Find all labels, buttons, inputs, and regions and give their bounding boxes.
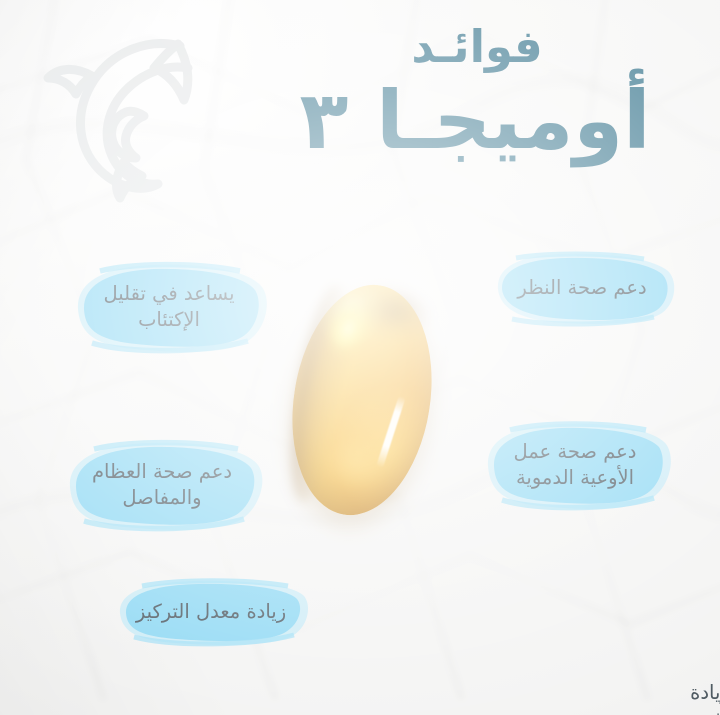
benefit-blob-blood-vessels[interactable]: دعم صحة عمل الأوعية الدموية	[474, 418, 676, 512]
fish-watermark-icon	[28, 16, 218, 206]
benefit-blob-depression[interactable]: يساعد في تقليل الإكتئاب	[66, 259, 272, 355]
benefit-label-vision: دعم صحة النظر	[482, 249, 682, 327]
fish-oil-capsule	[286, 282, 442, 520]
omega3-benefits-poster: فوائـد أوميجـا ٣	[0, 0, 720, 715]
benefit-blob-focus[interactable]: زيادة معدل التركيز	[108, 577, 314, 647]
benefit-label-depression: يساعد في تقليل الإكتئاب	[66, 259, 272, 355]
benefit-label-focus: زيادة معدل التركيز	[108, 577, 314, 647]
poster-main-title: أوميجـا ٣	[240, 76, 710, 166]
benefit-label-blood-vessels: دعم صحة عمل الأوعية الدموية	[474, 418, 676, 512]
poster-eyebrow-title: فوائـد	[262, 23, 692, 70]
benefit-label-bones-joints: دعم صحة العظام والمفاصل	[56, 437, 268, 533]
benefit-blob-vision[interactable]: دعم صحة النظر	[482, 249, 682, 327]
benefit-blob-bones-joints[interactable]: دعم صحة العظام والمفاصل	[56, 437, 268, 533]
